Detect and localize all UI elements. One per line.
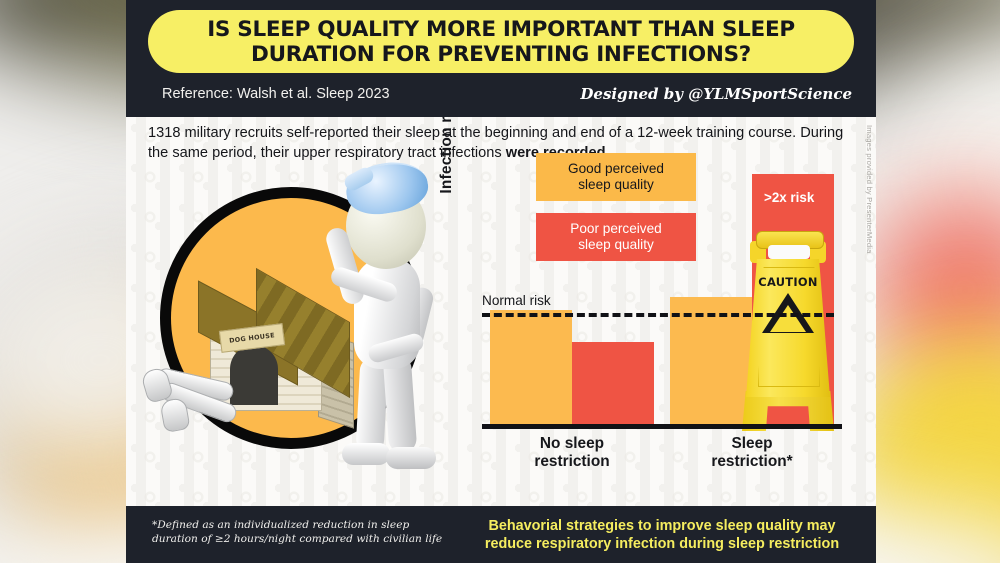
- intro-text-regular: 1318 military recruits self-reported the…: [148, 125, 843, 161]
- sick-person-figure: [306, 165, 456, 483]
- sleeping-person-legs: [146, 373, 251, 435]
- doghouse-sign-label: DOG HOUSE: [229, 331, 275, 345]
- takeaway-line-2: reduce respiratory infection during slee…: [485, 536, 839, 552]
- normal-risk-line: [482, 313, 834, 317]
- chart-y-axis-label: Infection risk: [438, 117, 456, 209]
- warning-triangle-inner: [770, 305, 806, 332]
- bar-poor-no-restriction: [572, 342, 654, 424]
- figure-shoe-left: [342, 443, 390, 465]
- image-credit: Images provided by PresenterMedia: [865, 125, 874, 275]
- footer: *Defined as an individualized reduction …: [126, 506, 876, 563]
- chart-x-axis-labels: No sleeprestriction Sleeprestriction*: [482, 435, 866, 485]
- caution-sign-text: CAUTION: [746, 275, 830, 289]
- footer-takeaway: Behavorial strategies to improve sleep q…: [466, 517, 858, 553]
- illustration: DOG HOUSE: [146, 165, 456, 485]
- takeaway-line-1: Behavorial strategies to improve sleep q…: [488, 518, 835, 534]
- normal-risk-label: Normal risk: [482, 293, 551, 308]
- body: 1318 military recruits self-reported the…: [126, 117, 876, 506]
- screenshot-stage: IS SLEEP QUALITY MORE IMPORTANT THAN SLE…: [0, 0, 1000, 563]
- header: IS SLEEP QUALITY MORE IMPORTANT THAN SLE…: [126, 0, 876, 117]
- page-title: IS SLEEP QUALITY MORE IMPORTANT THAN SLE…: [148, 17, 854, 67]
- chart-baseline-axis: [482, 424, 842, 429]
- reference-text: Reference: Walsh et al. Sleep 2023: [162, 86, 390, 102]
- title-pill: IS SLEEP QUALITY MORE IMPORTANT THAN SLE…: [148, 10, 854, 73]
- x-label-no-sleep-restriction: No sleeprestriction: [502, 435, 642, 471]
- risk-annotation: >2x risk: [764, 190, 814, 205]
- infographic-card: IS SLEEP QUALITY MORE IMPORTANT THAN SLE…: [126, 0, 876, 563]
- figure-shoe-right: [386, 447, 436, 469]
- designer-credit: Designed by @YLMSportScience: [580, 85, 852, 103]
- footnote: *Defined as an individualized reduction …: [152, 518, 457, 546]
- bar-good-no-restriction: [490, 310, 572, 424]
- figure-leg-right: [383, 354, 418, 454]
- x-label-sleep-restriction: Sleeprestriction*: [682, 435, 822, 471]
- chart-plot-area: >2x risk CAUTION Normal ri: [482, 157, 866, 429]
- caution-sign-slot: [768, 245, 810, 259]
- caution-sign-icon: CAUTION: [742, 231, 834, 431]
- bar-chart: Infection risk Good perceivedsleep quali…: [436, 157, 866, 502]
